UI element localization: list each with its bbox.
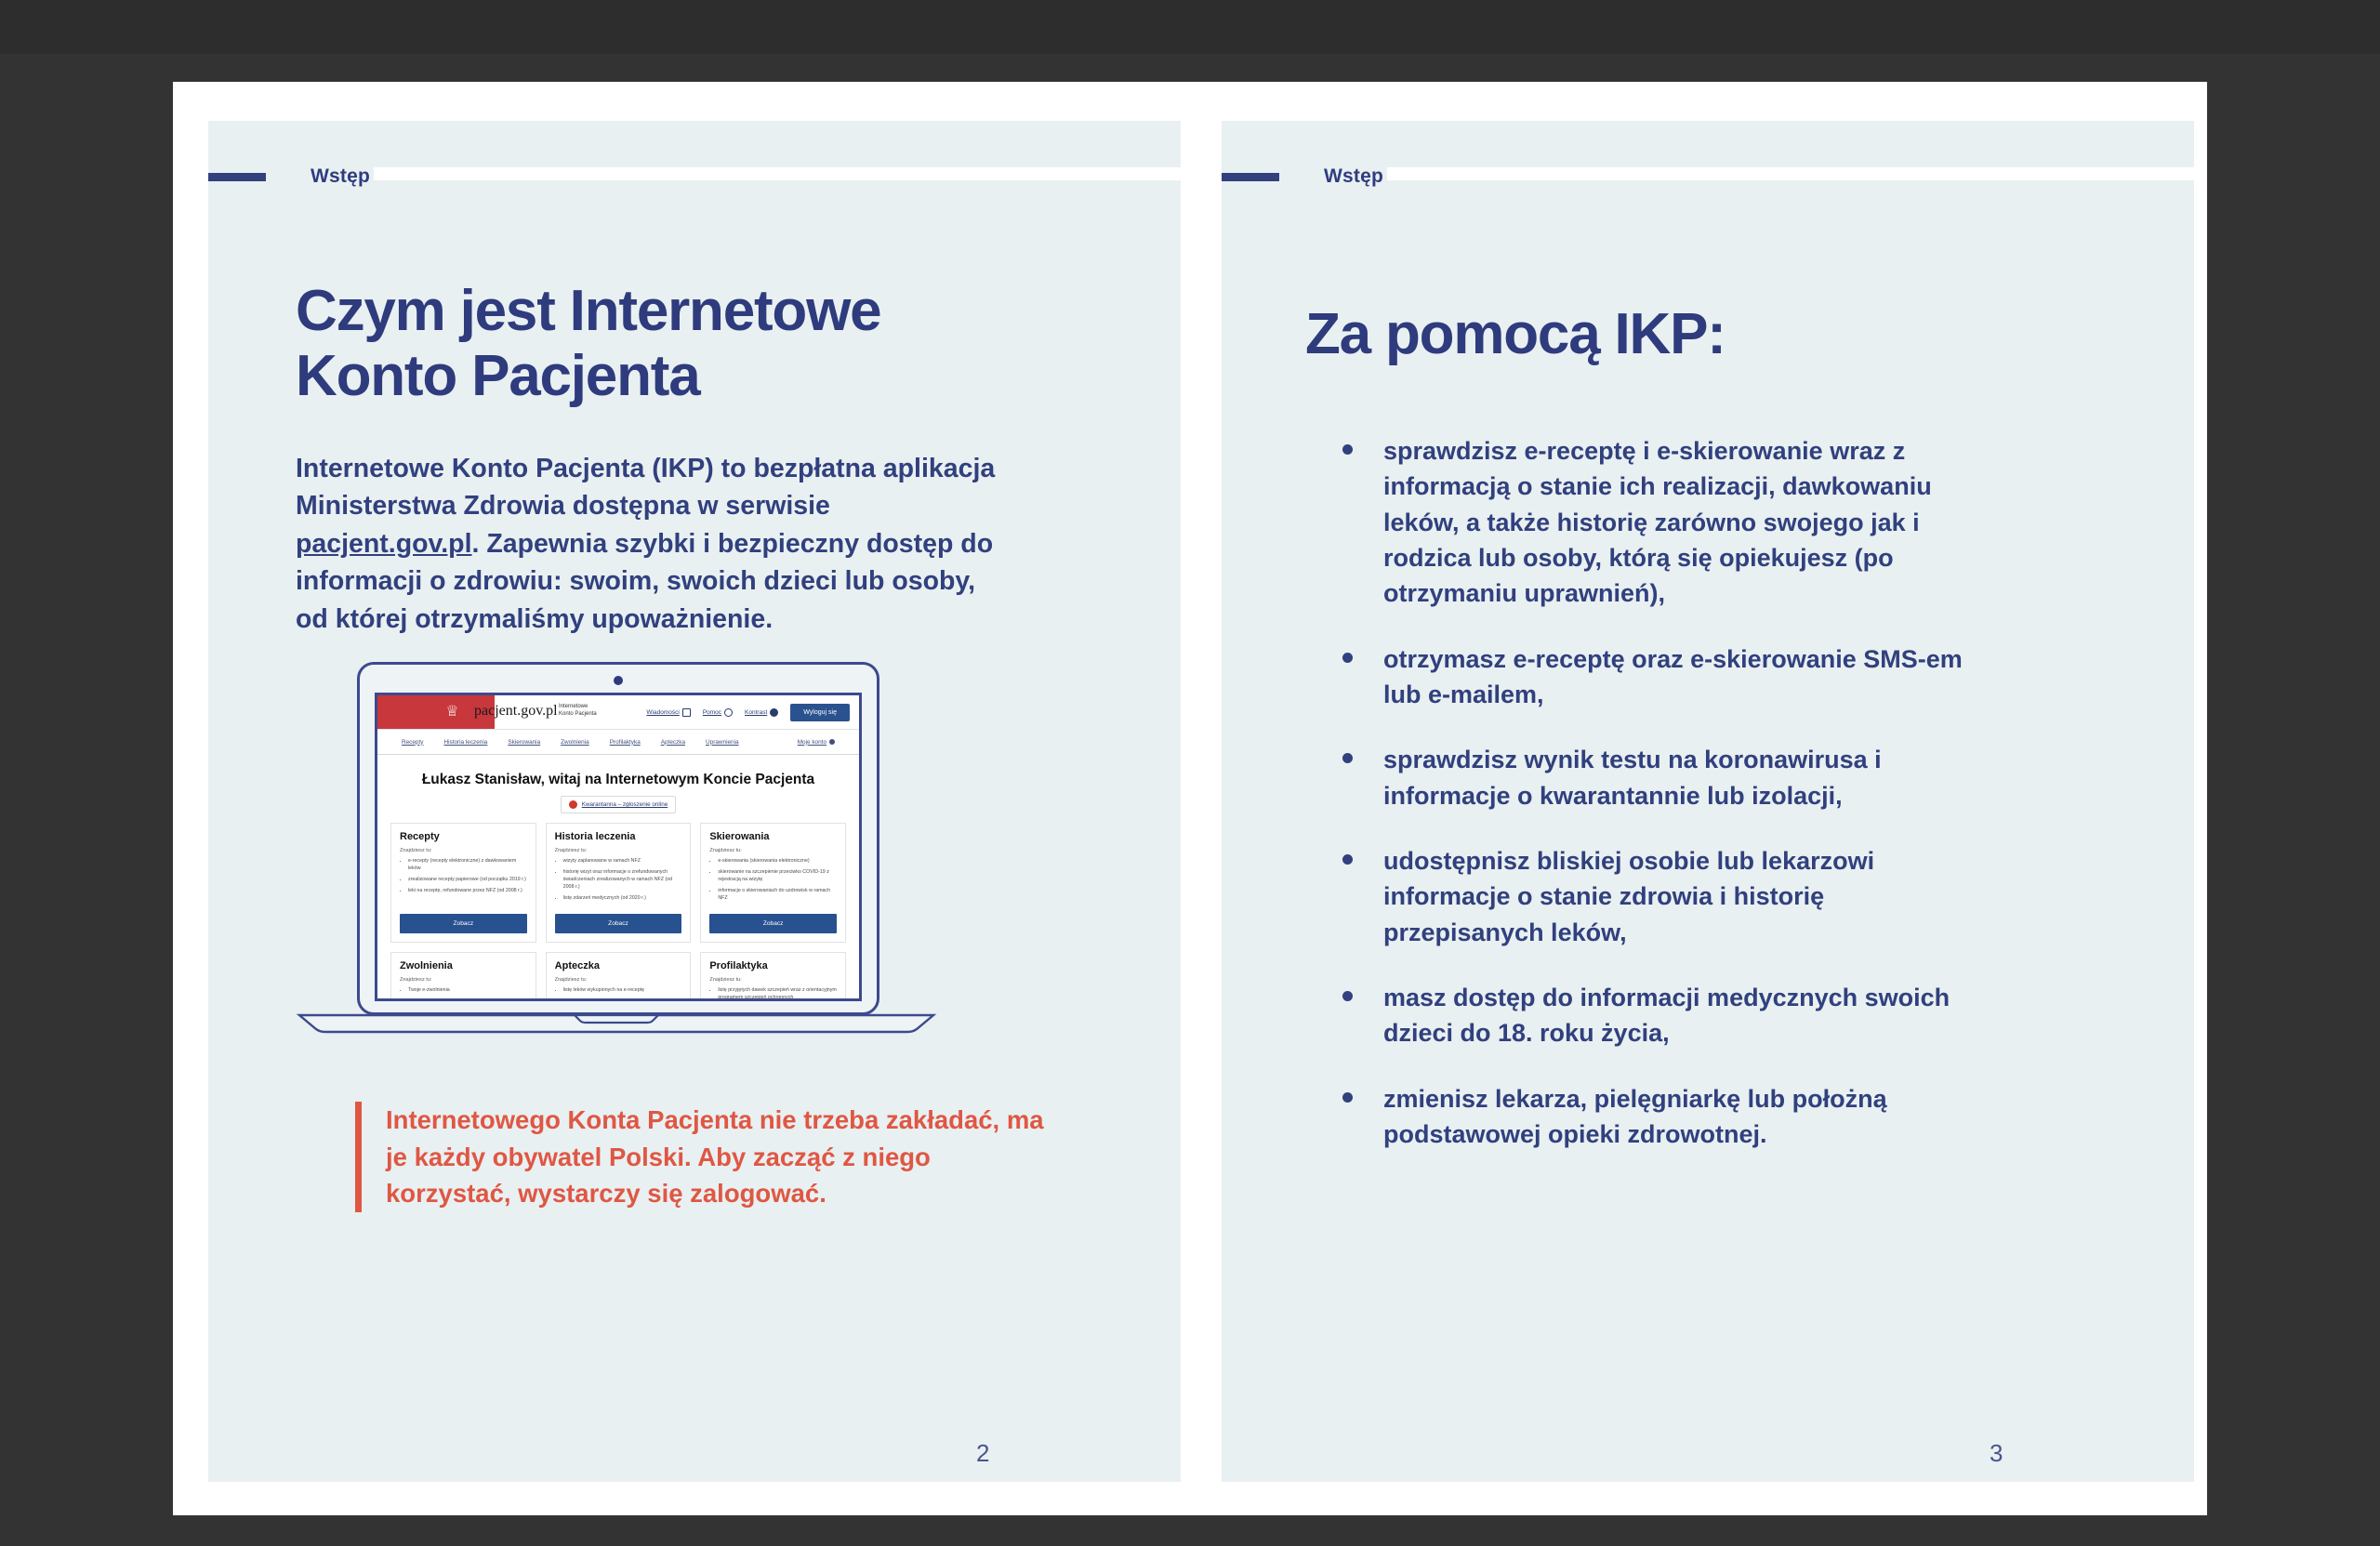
help-link[interactable]: Pomoc [703,708,733,717]
card-list: listę przyjętych dawek szczepień wraz z … [709,987,837,1001]
screenshot-viewport: Wstęp Czym jest Internetowe Konto Pacjen… [0,0,2380,1546]
card-list-item: listę przyjętych dawek szczepień wraz z … [718,987,837,1001]
card-list-item: zrealizowane recepty papierowe (od począ… [408,877,527,884]
list-item-label: masz dostęp do informacji medycznych swo… [1383,984,1950,1047]
ikp-navbar: Recepty Historia leczenia Skierowania Zw… [377,729,859,755]
nav-item-uprawnienia[interactable]: Uprawnienia [706,739,739,746]
card-list: listę leków wykupionych na e-receptę wys… [555,987,682,1001]
list-item: zmienisz lekarza, pielęgniarkę lub położ… [1331,1081,1982,1153]
paragraph-before-link: Internetowe Konto Pacjenta (IKP) to bezp… [296,454,995,521]
card-list-item: szczegóły wystawionego zaświadczenia lek… [408,998,527,1001]
nav-item-recepty[interactable]: Recepty [402,739,423,746]
list-item-label: zmienisz lekarza, pielęgniarkę lub położ… [1383,1085,1887,1148]
card-list-item: Twoje e-zwolnienia [408,987,527,995]
page-title-left: Czym jest Internetowe Konto Pacjenta [296,279,965,409]
page-number-right: 3 [1990,1439,2003,1468]
card-list-item: e-recepty (recepty elektroniczne) z dawk… [408,858,527,873]
ikp-card-grid: Recepty Znajdziesz tu: e-recepty (recept… [377,813,859,1001]
ikp-brand: pacjent.gov.pl [474,703,558,720]
account-link[interactable]: Moje konto [798,739,835,746]
card-list-item: skierowanie na szczepienie przeciwko COV… [718,869,837,884]
running-head-dash-icon [208,173,266,181]
laptop-base [296,1013,937,1034]
list-item-label: otrzymasz e-receptę oraz e-skierowanie S… [1383,645,1963,708]
card-apteczka[interactable]: Apteczka Znajdziesz tu: listę leków wyku… [546,952,692,1001]
polish-eagle-icon: ♕ [444,704,460,720]
card-list: Twoje e-zwolnienia szczegóły wystawioneg… [400,987,527,1001]
list-item-label: sprawdzisz wynik testu na koronawirusa i… [1383,746,1882,809]
card-button[interactable]: Zobacz [400,914,527,933]
card-list-item: wyszukiwarkę leków dostępnych w Polsce [563,998,682,1001]
card-list-item: listę zdarzeń medycznych (od 2020 r.) [563,895,682,903]
nav-item-historia-leczenia[interactable]: Historia leczenia [443,739,487,746]
welcome-heading: Łukasz Stanisław, witaj na Internetowym … [377,755,859,788]
card-list-item: informacje o skierowaniach do uzdrowisk … [718,888,837,903]
nav-item-zwolnienia[interactable]: Zwolnienia [561,739,589,746]
ikp-gov-bar: ♕ pacjent.gov.pl InternetoweKonto Pacjen… [377,695,859,729]
user-icon [829,739,835,745]
card-skierowania[interactable]: Skierowania Znajdziesz tu: e-skierowania… [700,823,846,943]
running-head-right: Wstęp [1222,165,1383,188]
card-title: Historia leczenia [555,831,682,842]
card-button[interactable]: Zobacz [555,914,682,933]
nav-item-apteczka[interactable]: Apteczka [661,739,685,746]
running-head-label: Wstęp [311,165,370,188]
page-title-right: Za pomocą IKP: [1305,302,1975,367]
bullet-dot-icon [1342,991,1353,1001]
card-subtitle: Znajdziesz tu: [555,848,682,853]
quarantine-badge[interactable]: Kwarantanna – zgłoszenie online [561,796,676,813]
nav-item-skierowania[interactable]: Skierowania [508,739,540,746]
bullet-dot-icon [1342,653,1353,663]
ikp-brand-subtitle: InternetoweKonto Pacjenta [559,703,597,718]
running-head-left: Wstęp [208,165,370,188]
callout-note: Internetowego Konta Pacjenta nie trzeba … [355,1102,1055,1212]
card-list-item: wizyty zaplanowane w ramach NFZ [563,858,682,865]
card-profilaktyka[interactable]: Profilaktyka Znajdziesz tu: listę przyję… [700,952,846,1001]
dark-backdrop-top [0,0,2380,54]
bullet-dot-icon [1342,444,1353,455]
messages-link[interactable]: Wiadomości [646,708,690,717]
card-subtitle: Znajdziesz tu: [709,977,837,983]
contrast-icon [770,708,778,717]
contrast-link[interactable]: Kontrast [745,708,778,717]
card-subtitle: Znajdziesz tu: [400,848,527,853]
card-title: Profilaktyka [709,960,837,971]
feature-bullet-list: sprawdzisz e-receptę i e-skierowanie wra… [1331,433,1982,1182]
logout-button[interactable]: Wyloguj się [790,704,850,721]
card-subtitle: Znajdziesz tu: [555,977,682,983]
list-item-label: udostępnisz bliskiej osobie lub lekarzow… [1383,847,1874,946]
ikp-gov-bar-right: Wiadomości Pomoc Kontrast Wyloguj się [646,704,850,721]
webcam-icon [614,676,623,685]
running-head-label: Wstęp [1324,165,1383,188]
quarantine-badge-wrap: Kwarantanna – zgłoszenie online [377,796,859,813]
header-stripe-right [1387,167,2194,180]
laptop-lid: ♕ pacjent.gov.pl InternetoweKonto Pacjen… [357,662,879,1015]
list-item: otrzymasz e-receptę oraz e-skierowanie S… [1331,641,1982,713]
card-title: Skierowania [709,831,837,842]
card-list: e-recepty (recepty elektroniczne) z dawk… [400,858,527,899]
card-title: Recepty [400,831,527,842]
question-icon [724,708,733,717]
page-number-left: 2 [976,1439,989,1468]
card-list-item: historię wizyt oraz informacje o zrefund… [563,869,682,892]
virus-icon [569,800,577,809]
card-title: Zwolnienia [400,960,527,971]
card-list-item: leki na receptę, refundowane przez NFZ (… [408,888,527,895]
list-item-label: sprawdzisz e-receptę i e-skierowanie wra… [1383,437,1932,607]
bullet-dot-icon [1342,854,1353,865]
quarantine-badge-label: Kwarantanna – zgłoszenie online [582,801,668,808]
envelope-icon [682,708,691,717]
list-item: masz dostęp do informacji medycznych swo… [1331,980,1982,1051]
card-list: wizyty zaplanowane w ramach NFZ historię… [555,858,682,906]
bullet-dot-icon [1342,753,1353,763]
running-head-dash-icon [1222,173,1279,181]
card-list-item: e-skierowania (skierowania elektroniczne… [718,858,837,865]
card-subtitle: Znajdziesz tu: [709,848,837,853]
nav-item-profilaktyka[interactable]: Profilaktyka [610,739,641,746]
header-stripe-left [374,167,1181,180]
list-item: udostępnisz bliskiej osobie lub lekarzow… [1331,843,1982,950]
card-recepty[interactable]: Recepty Znajdziesz tu: e-recepty (recept… [390,823,536,943]
card-title: Apteczka [555,960,682,971]
list-item: sprawdzisz wynik testu na koronawirusa i… [1331,742,1982,813]
card-list-item: listę leków wykupionych na e-receptę [563,987,682,995]
laptop-screen: ♕ pacjent.gov.pl InternetoweKonto Pacjen… [375,693,862,1001]
laptop-illustration: ♕ pacjent.gov.pl InternetoweKonto Pacjen… [296,662,937,1034]
bullet-dot-icon [1342,1092,1353,1103]
card-list: e-skierowania (skierowania elektroniczne… [709,858,837,906]
pacjent-gov-pl-link[interactable]: pacjent.gov.pl [296,529,472,559]
intro-paragraph: Internetowe Konto Pacjenta (IKP) to bezp… [296,450,1002,638]
list-item: sprawdzisz e-receptę i e-skierowanie wra… [1331,433,1982,612]
card-subtitle: Znajdziesz tu: [400,977,527,983]
card-zwolnienia[interactable]: Zwolnienia Znajdziesz tu: Twoje e-zwolni… [390,952,536,1001]
card-historia-leczenia[interactable]: Historia leczenia Znajdziesz tu: wizyty … [546,823,692,943]
card-button[interactable]: Zobacz [709,914,837,933]
